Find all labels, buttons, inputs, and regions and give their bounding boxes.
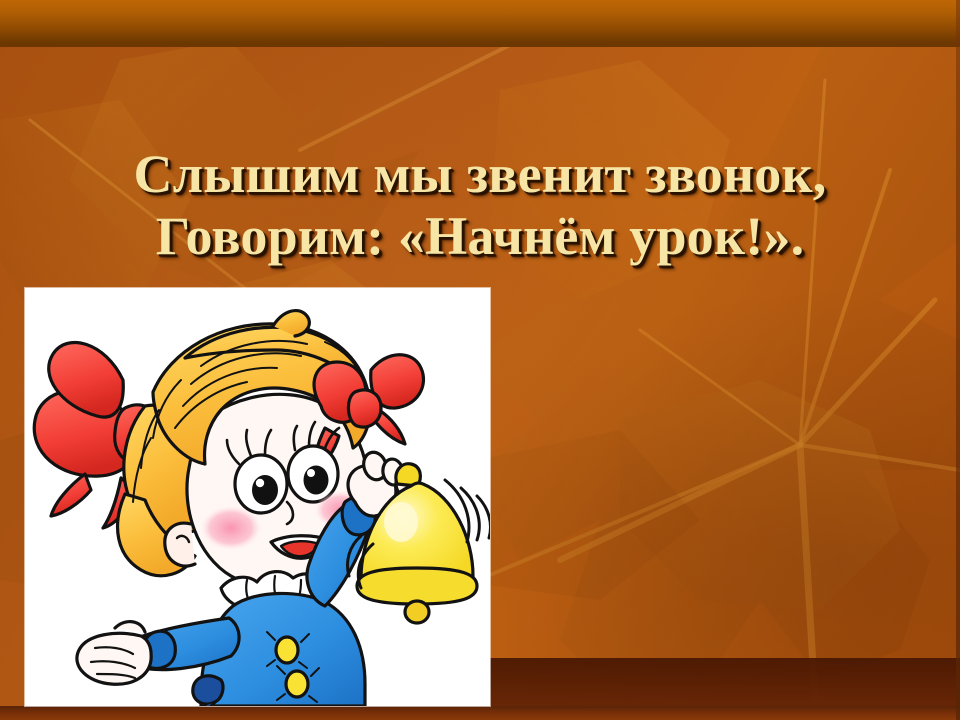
illustration-panel (25, 288, 490, 706)
top-gradient-band (0, 0, 960, 47)
right-edge-line (956, 0, 960, 720)
slide-canvas: Слышим мы звенит звонок, Говорим: «Начнё… (0, 0, 960, 720)
girl-ringing-school-bell-icon (25, 288, 490, 706)
bottom-band (0, 706, 960, 720)
